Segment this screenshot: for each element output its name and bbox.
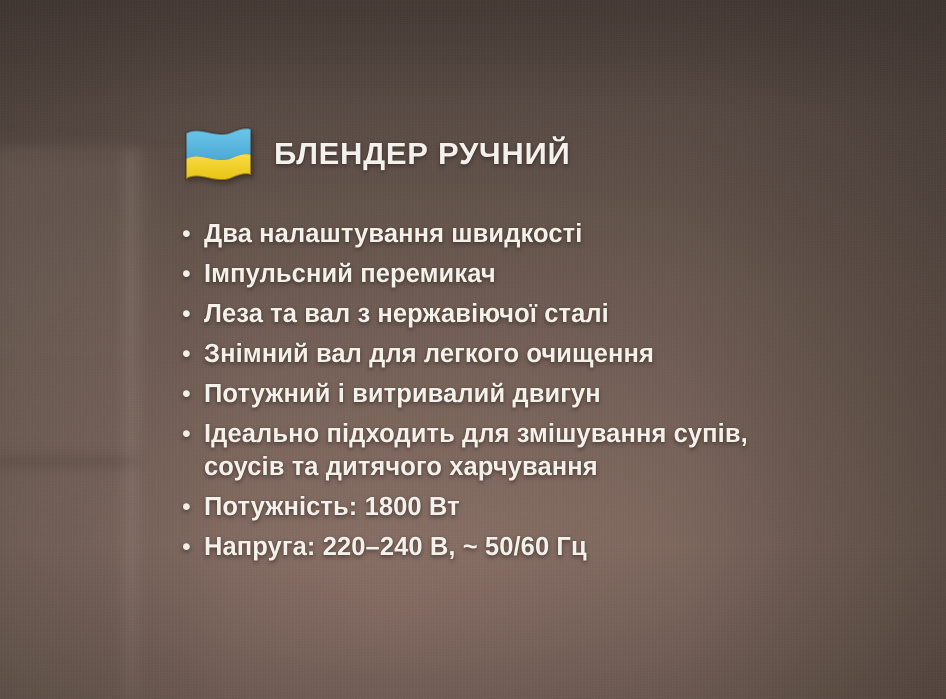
feature-label: Леза та вал з нержавіючої сталі	[204, 298, 609, 331]
bullet-icon: •	[182, 258, 204, 291]
list-item: • Знімний вал для легкого очищення	[182, 338, 882, 371]
bullet-icon: •	[182, 298, 204, 331]
list-item: • Два налаштування швидкості	[182, 218, 882, 251]
bullet-icon: •	[182, 218, 204, 251]
feature-label-line-2: соусів та дитячого харчування	[204, 451, 748, 484]
list-item: • Потужність: 1800 Вт	[182, 491, 882, 524]
feature-list: • Два налаштування швидкості • Імпульсни…	[182, 218, 882, 571]
feature-label: Два налаштування швидкості	[204, 218, 582, 251]
feature-label-power: Потужність: 1800 Вт	[204, 491, 460, 524]
bullet-icon: •	[182, 418, 204, 451]
feature-label: Імпульсний перемикач	[204, 258, 496, 291]
list-item: • Імпульсний перемикач	[182, 258, 882, 291]
ukraine-flag-icon	[180, 123, 256, 185]
bullet-icon: •	[182, 491, 204, 524]
headline: БЛЕНДЕР РУЧНИЙ	[180, 123, 570, 185]
bullet-icon: •	[182, 378, 204, 411]
list-item: • Потужний і витривалий двигун	[182, 378, 882, 411]
list-item: • Ідеально підходить для змішування супі…	[182, 418, 882, 484]
feature-label-line-1: Ідеально підходить для змішування супів,	[204, 418, 748, 451]
product-feature-slide: БЛЕНДЕР РУЧНИЙ • Два налаштування швидко…	[0, 0, 946, 699]
list-item: • Леза та вал з нержавіючої сталі	[182, 298, 882, 331]
page-title: БЛЕНДЕР РУЧНИЙ	[274, 136, 570, 172]
bullet-icon: •	[182, 338, 204, 371]
list-item: • Напруга: 220–240 В, ~ 50/60 Гц	[182, 531, 882, 564]
feature-label-multiline: Ідеально підходить для змішування супів,…	[204, 418, 748, 484]
slide-content: БЛЕНДЕР РУЧНИЙ • Два налаштування швидко…	[0, 0, 946, 699]
feature-label: Знімний вал для легкого очищення	[204, 338, 654, 371]
bullet-icon: •	[182, 531, 204, 564]
feature-label: Потужний і витривалий двигун	[204, 378, 601, 411]
feature-label-voltage: Напруга: 220–240 В, ~ 50/60 Гц	[204, 531, 587, 564]
